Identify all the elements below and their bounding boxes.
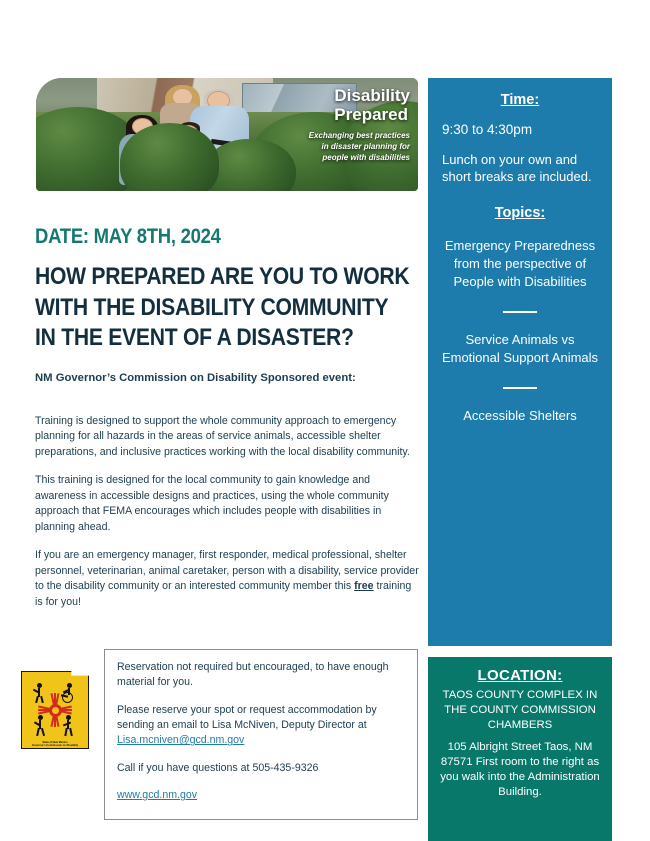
topic-item: Service Animals vs Emotional Support Ani…: [438, 331, 602, 367]
free-emphasis: free: [354, 580, 373, 592]
page-title: HOW PREPARED ARE YOU TO WORK WITH THE DI…: [35, 262, 413, 354]
topic-divider: [503, 311, 537, 313]
topic-item: Accessible Shelters: [438, 407, 602, 425]
topic-item: Emergency Preparedness from the perspect…: [438, 237, 602, 291]
banner-tagline-line2: in disaster planning for: [260, 142, 410, 153]
email-link[interactable]: Lisa.mcniven@gcd.nm.gov: [117, 734, 244, 746]
location-panel: LOCATION: TAOS COUNTY COMPLEX IN THE COU…: [428, 657, 612, 841]
banner-title-line1: Disability: [334, 86, 410, 105]
location-heading: LOCATION:: [436, 667, 604, 684]
paragraph-audience: If you are an emergency manager, first r…: [35, 548, 420, 610]
time-hours: 9:30 to 4:30pm: [442, 121, 602, 139]
banner-text-block: Disability Prepared Exchanging best prac…: [260, 86, 410, 163]
website-link[interactable]: www.gcd.nm.gov: [117, 789, 197, 801]
time-topics-panel: Time: 9:30 to 4:30pm Lunch on your own a…: [428, 78, 612, 646]
reservation-instructions-text: Please reserve your spot or request acco…: [117, 704, 377, 731]
reservation-website-line: www.gcd.nm.gov: [117, 788, 405, 803]
logo-caption-line2: Governor’s Commission on Disability: [21, 744, 89, 747]
body-copy: Training is designed to support the whol…: [35, 414, 420, 623]
paragraph-fema-approach: This training is designed for the local …: [35, 473, 420, 535]
reservation-phone: Call if you have questions at 505-435-93…: [117, 761, 405, 776]
topics-heading: Topics:: [438, 205, 602, 221]
logo-caption: State of New Mexico Governor’s Commissio…: [21, 741, 89, 747]
reservation-note: Reservation not required but encouraged,…: [117, 660, 405, 691]
banner-tagline-line1: Exchanging best practices: [260, 131, 410, 142]
banner-tagline: Exchanging best practices in disaster pl…: [260, 131, 410, 163]
topic-divider: [503, 387, 537, 389]
header-banner-image: Disability Prepared Exchanging best prac…: [36, 78, 418, 191]
time-note: Lunch on your own and short breaks are i…: [442, 151, 602, 185]
paragraph-training-overview: Training is designed to support the whol…: [35, 414, 420, 460]
event-date: DATE: MAY 8TH, 2024: [35, 225, 221, 249]
time-heading: Time:: [438, 92, 602, 108]
banner-title-line2: Prepared: [260, 105, 410, 124]
sponsor-subheading: NM Governor’s Commission on Disability S…: [35, 371, 417, 387]
nm-gcd-logo: State of New Mexico Governor’s Commissio…: [21, 671, 89, 749]
location-address: 105 Albright Street Taos, NM 87571 First…: [436, 740, 604, 799]
location-venue: TAOS COUNTY COMPLEX IN THE COUNTY COMMIS…: [436, 688, 604, 732]
banner-title: Disability Prepared: [260, 86, 410, 124]
reservation-instructions: Please reserve your spot or request acco…: [117, 703, 405, 749]
banner-tagline-line3: people with disabilities: [260, 153, 410, 164]
reservation-box: Reservation not required but encouraged,…: [104, 649, 418, 820]
